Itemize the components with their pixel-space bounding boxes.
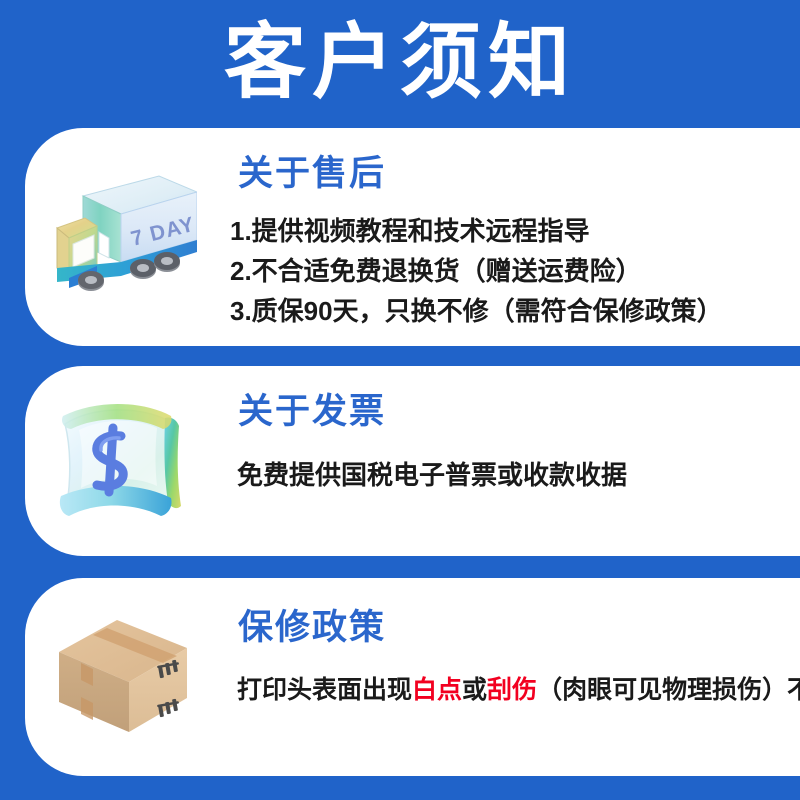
section-heading-after-sales: 关于售后 — [238, 156, 386, 191]
delivery-truck-icon: 7 DAY — [47, 166, 197, 306]
warranty-text-part1: 打印头表面出现 — [237, 676, 412, 704]
card-warranty-policy: 保修政策 打印头表面出现白点或刮伤（肉眼可见物理损伤）不支持保修. — [25, 578, 800, 776]
page-header: 客户须知 — [0, 0, 800, 122]
section-heading-warranty: 保修政策 — [238, 610, 386, 645]
card-after-sales: 7 DAY — [25, 128, 800, 346]
warranty-text-part3: （肉眼可见物理损伤）不支持保修. — [537, 676, 800, 704]
section-heading-invoice: 关于发票 — [238, 394, 386, 429]
warranty-text: 保修政策 打印头表面出现白点或刮伤（肉眼可见物理损伤）不支持保修. — [215, 578, 800, 776]
after-sales-line-1: 1.提供视频教程和技术远程指导 — [230, 218, 590, 244]
after-sales-line-2: 2.不合适免费退换货（赠送运费险） — [230, 258, 642, 284]
warranty-highlight-white-dot: 白点 — [412, 676, 462, 704]
invoice-dollar-icon — [47, 390, 187, 530]
invoice-line-1: 免费提供国税电子普票或收款收据 — [237, 462, 627, 488]
cardboard-box-icon — [47, 604, 197, 744]
invoice-text: 关于发票 免费提供国税电子普票或收款收据 — [215, 366, 800, 556]
after-sales-line-3: 3.质保90天，只换不修（需符合保修政策） — [230, 298, 723, 324]
card-invoice: 关于发票 免费提供国税电子普票或收款收据 — [25, 366, 800, 556]
page-title: 客户须知 — [224, 22, 576, 104]
warranty-text-part2: 或 — [462, 676, 487, 704]
warranty-highlight-scratch: 刮伤 — [487, 676, 537, 704]
page-root: 客户须知 — [0, 0, 800, 800]
after-sales-text: 关于售后 1.提供视频教程和技术远程指导 2.不合适免费退换货（赠送运费险） 3… — [215, 128, 800, 346]
warranty-line-1: 打印头表面出现白点或刮伤（肉眼可见物理损伤）不支持保修. — [237, 678, 800, 703]
